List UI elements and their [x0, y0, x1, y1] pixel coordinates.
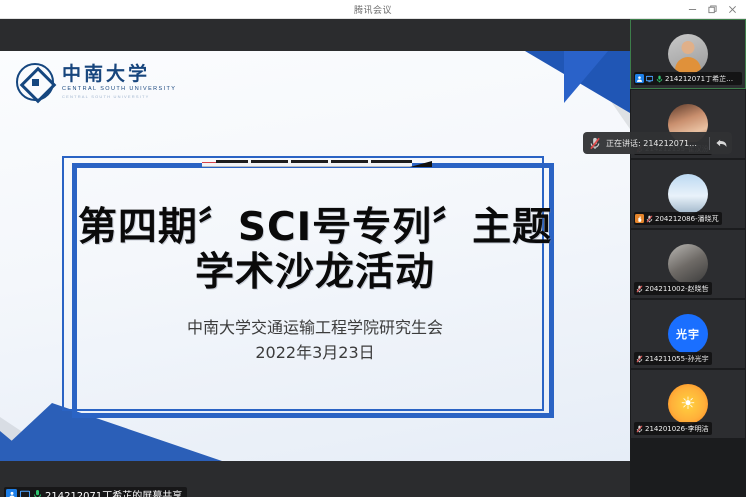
university-emblem-icon: [16, 63, 54, 101]
slide-title-line-1: 第四期〞SCI号专列〞主题: [0, 206, 630, 251]
mic-muted-icon: [635, 284, 644, 293]
university-logo: 中南大学 CENTRAL SOUTH UNIVERSITY CENTRAL SO…: [16, 63, 176, 101]
decoration-bottom-left-blue-2: [0, 431, 36, 461]
shared-screen-view[interactable]: 中南大学 CENTRAL SOUTH UNIVERSITY CENTRAL SO…: [0, 19, 630, 497]
slide-title-line-2: 学术沙龙活动: [0, 251, 630, 296]
university-name-en: CENTRAL SOUTH UNIVERSITY: [62, 86, 176, 92]
letterbox-top: [0, 19, 630, 51]
raise-hand-icon: [635, 214, 644, 223]
university-name-en-sub: CENTRAL SOUTH UNIVERSITY: [62, 94, 176, 99]
participant-label: 204211002-赵晓哲: [634, 282, 712, 295]
mic-on-icon: [655, 74, 664, 83]
slide-subtitle-org: 中南大学交通运输工程学院研究生会: [0, 316, 630, 341]
toast-divider: [709, 137, 710, 150]
mic-on-icon: [32, 489, 43, 497]
reply-arrow-icon[interactable]: [715, 137, 728, 150]
avatar: ☀: [668, 384, 708, 424]
screen-share-status-text: 214212071丁希芷的屏幕共享: [45, 487, 182, 497]
participant-name: 214201026-李明洁: [645, 424, 709, 434]
high-speed-train-graphic: [202, 160, 432, 169]
university-name-cn: 中南大学: [62, 65, 176, 85]
avatar: [668, 244, 708, 284]
participant-tile[interactable]: 光宇 214211055-孙光宇: [630, 299, 746, 369]
avatar: 光宇: [668, 314, 708, 354]
participant-label: 214212071丁希芷演讲…: [634, 72, 742, 85]
participant-name: 204212086-潘晓芃: [655, 214, 719, 224]
participant-name: 204211002-赵晓哲: [645, 284, 709, 294]
participant-sidebar[interactable]: 214212071丁希芷演讲… 214212155-崔汉汾: [630, 19, 746, 497]
presentation-slide: 中南大学 CENTRAL SOUTH UNIVERSITY CENTRAL SO…: [0, 51, 630, 461]
participant-tile[interactable]: 204212086-潘晓芃: [630, 159, 746, 229]
decoration-top-right-blue-2: [564, 51, 608, 103]
screen-share-icon: [645, 74, 654, 83]
participant-tile[interactable]: 204211002-赵晓哲: [630, 229, 746, 299]
screen-share-icon: [19, 489, 30, 497]
participant-label: 214201026-李明洁: [634, 422, 712, 435]
host-badge-icon: [6, 489, 17, 497]
participant-tile[interactable]: 214212071丁希芷演讲…: [630, 19, 746, 89]
avatar: [668, 174, 708, 214]
meeting-body: 中南大学 CENTRAL SOUTH UNIVERSITY CENTRAL SO…: [0, 19, 746, 497]
window-controls: [682, 0, 742, 19]
screen-share-status-bar: 214212071丁希芷的屏幕共享: [4, 487, 187, 497]
mic-muted-icon: [635, 424, 644, 433]
mic-muted-icon: [645, 214, 654, 223]
university-logo-text: 中南大学 CENTRAL SOUTH UNIVERSITY CENTRAL SO…: [62, 65, 176, 99]
avatar: [668, 34, 708, 74]
minimize-button[interactable]: [682, 0, 702, 19]
speaking-toast-text: 正在讲话: 214212071丁…: [606, 138, 702, 149]
slide-title: 第四期〞SCI号专列〞主题 学术沙龙活动: [0, 206, 630, 296]
speaking-toast[interactable]: 正在讲话: 214212071丁…: [583, 132, 732, 154]
participant-tile[interactable]: ☀ 214201026-李明洁: [630, 369, 746, 439]
window-title: 腾讯会议: [354, 3, 392, 16]
participant-name: 214212071丁希芷演讲…: [665, 74, 739, 84]
restore-button[interactable]: [702, 0, 722, 19]
participant-name: 214211055-孙光宇: [645, 354, 709, 364]
participant-label: 204212086-潘晓芃: [634, 212, 722, 225]
slide-subtitle: 中南大学交通运输工程学院研究生会 2022年3月23日: [0, 316, 630, 366]
host-badge-icon: [635, 74, 644, 83]
participant-label: 214211055-孙光宇: [634, 352, 712, 365]
window-titlebar: 腾讯会议: [0, 0, 746, 19]
close-button[interactable]: [722, 0, 742, 19]
tencent-meeting-window: 腾讯会议: [0, 0, 746, 497]
mic-muted-icon: [589, 137, 601, 150]
slide-subtitle-date: 2022年3月23日: [0, 341, 630, 366]
mic-muted-icon: [635, 354, 644, 363]
